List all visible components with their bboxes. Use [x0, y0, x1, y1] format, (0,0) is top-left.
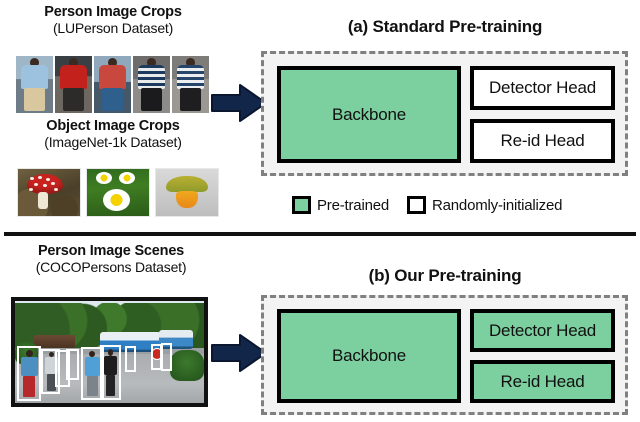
figure-root: Person Image Crops (LUPerson Dataset) [0, 0, 640, 422]
panel-b-reid-head-box: Re-id Head [470, 360, 615, 403]
section-divider [4, 232, 636, 236]
panel-b-backbone-box: Backbone [277, 309, 461, 403]
panel-b-backbone-label: Backbone [332, 346, 406, 366]
person-scenes-caption-block: Person Image Scenes (COCOPersons Dataset… [4, 243, 218, 275]
legend: Pre-trained Randomly-initialized [292, 196, 562, 214]
object-crop-mushroom [17, 168, 81, 217]
panel-a-detector-head-box: Detector Head [470, 66, 615, 110]
person-scenes-title: Person Image Scenes [4, 243, 218, 259]
panel-a-backbone-label: Backbone [332, 105, 406, 125]
person-crop-4 [133, 56, 170, 113]
object-crops-title: Object Image Crops [8, 118, 218, 134]
person-crop-2 [55, 56, 92, 113]
panel-a-backbone-box: Backbone [277, 66, 461, 163]
person-crop-5 [172, 56, 209, 113]
person-crops-subtitle: (LUPerson Dataset) [8, 20, 218, 36]
person-crop-1 [16, 56, 53, 113]
object-crops-caption-block: Object Image Crops (ImageNet-1k Dataset) [8, 118, 218, 150]
person-crop-strip [16, 56, 209, 113]
object-crops-subtitle: (ImageNet-1k Dataset) [8, 134, 218, 150]
person-crops-title: Person Image Crops [8, 4, 218, 20]
bbox-9 [161, 343, 172, 372]
legend-swatch-randomly-initialized [407, 196, 426, 214]
bbox-1 [17, 346, 42, 401]
panel-a-reid-head-box: Re-id Head [470, 119, 615, 163]
bbox-4 [66, 349, 79, 380]
legend-label-randomly-initialized: Randomly-initialized [432, 197, 562, 214]
panel-b-reid-head-label: Re-id Head [501, 372, 585, 392]
panel-a-reid-head-label: Re-id Head [501, 131, 585, 151]
scene-photo [11, 297, 208, 407]
panel-b-detector-head-label: Detector Head [489, 321, 596, 341]
legend-swatch-pretrained [292, 196, 311, 214]
panel-a-title: (a) Standard Pre-training [262, 17, 628, 37]
panel-b-title: (b) Our Pre-training [262, 266, 628, 286]
panel-a-detector-head-label: Detector Head [489, 78, 596, 98]
panel-a-dashed-container: Backbone Detector Head Re-id Head [261, 51, 628, 176]
legend-label-pretrained: Pre-trained [317, 197, 389, 214]
object-crop-lamp [155, 168, 219, 217]
bbox-6 [100, 345, 121, 400]
person-scenes-subtitle: (COCOPersons Dataset) [4, 259, 218, 275]
object-crop-strip [17, 168, 219, 217]
person-crop-3 [94, 56, 131, 113]
panel-b-detector-head-box: Detector Head [470, 309, 615, 352]
person-crops-caption-block: Person Image Crops (LUPerson Dataset) [8, 4, 218, 36]
bbox-7 [125, 346, 136, 373]
object-crop-daisy [86, 168, 150, 217]
panel-b-dashed-container: Backbone Detector Head Re-id Head [261, 295, 628, 415]
